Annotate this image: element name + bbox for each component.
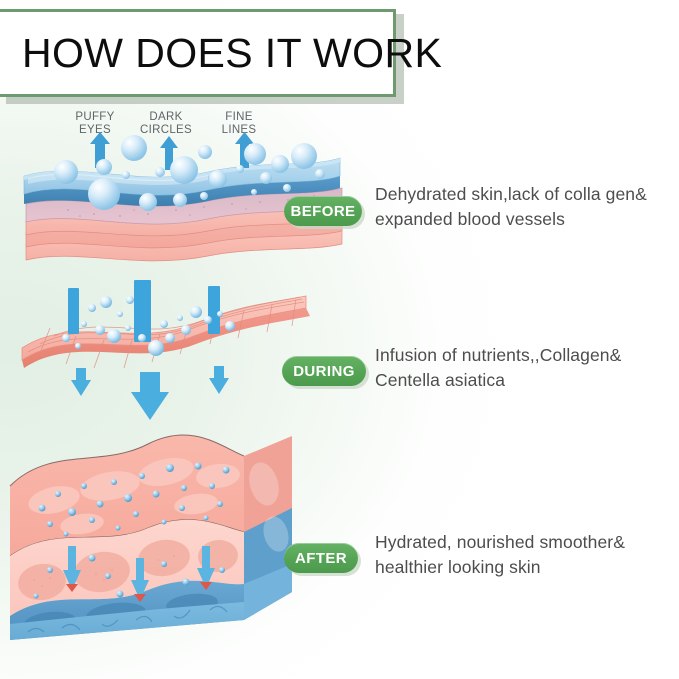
- illustration-after: [6, 424, 306, 634]
- description-during-line2: Centella asiatica: [375, 368, 621, 393]
- badge-before[interactable]: BEFORE: [284, 196, 362, 226]
- page-title: HOW DOES IT WORK: [2, 33, 442, 74]
- badge-before-wrapper: BEFORE: [284, 196, 362, 226]
- description-after: Hydrated, nourished smoother& healthier …: [375, 530, 625, 580]
- title-box-inner: HOW DOES IT WORK: [1, 14, 391, 92]
- description-before: Dehydrated skin,lack of colla gen& expan…: [375, 182, 647, 232]
- description-after-line1: Hydrated, nourished smoother&: [375, 530, 625, 555]
- badge-during[interactable]: DURING: [282, 356, 366, 386]
- title-box: HOW DOES IT WORK: [0, 9, 396, 97]
- badge-during-wrapper: DURING: [282, 356, 366, 386]
- description-after-line2: healthier looking skin: [375, 555, 625, 580]
- infographic-page: HOW DOES IT WORK PUFFY EYES DARK CIRCLES…: [0, 0, 679, 679]
- description-before-line1: Dehydrated skin,lack of colla gen&: [375, 182, 647, 207]
- badge-after[interactable]: AFTER: [284, 543, 358, 573]
- badge-after-wrapper: AFTER: [284, 543, 358, 573]
- callout-fine-lines-line1: FINE: [208, 111, 270, 124]
- illustration-during: [14, 286, 334, 421]
- description-during: Infusion of nutrients,,Collagen& Centell…: [375, 343, 621, 393]
- description-during-line1: Infusion of nutrients,,Collagen&: [375, 343, 621, 368]
- description-before-line2: expanded blood vessels: [375, 207, 647, 232]
- callout-dark-circles-line1: DARK: [131, 111, 201, 124]
- callout-puffy-eyes-line1: PUFFY: [62, 111, 128, 124]
